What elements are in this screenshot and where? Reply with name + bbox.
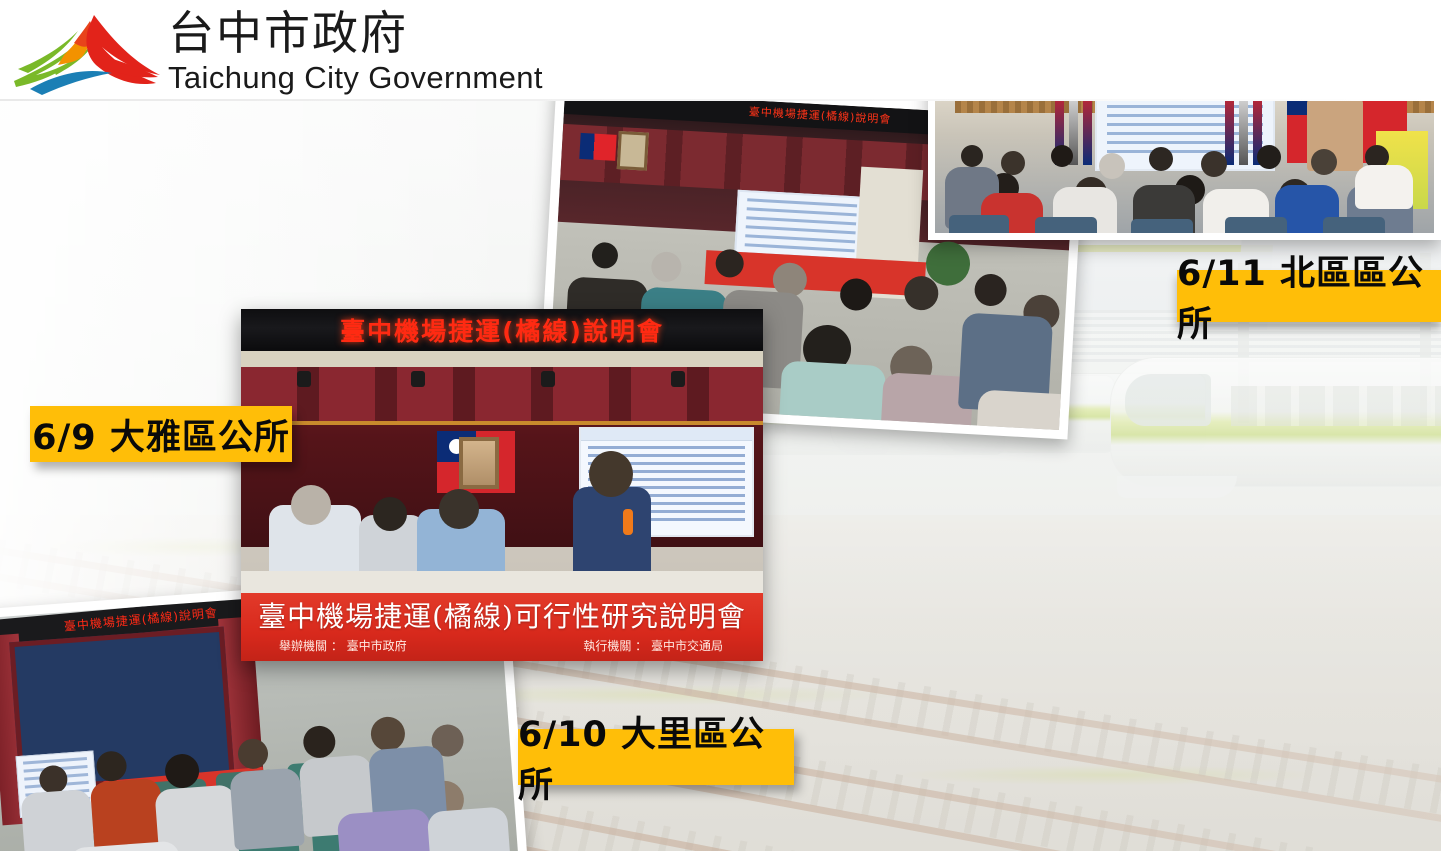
audience-head [974,273,1008,307]
red-event-banner: 臺中機場捷運(橘線)可行性研究說明會 舉辦機關 ： 臺中市政府 執行機關 ： 臺… [241,593,763,661]
banner-main-text: 臺中機場捷運(橘線)可行性研究說明會 [241,595,763,635]
audience-person [337,808,435,851]
audience-head [1001,151,1025,175]
audience-head [961,145,983,167]
slide-header [581,429,752,441]
audience-person [90,778,166,851]
audience-head [839,278,873,312]
stage-spotlight [411,371,425,387]
gov-title-zh: 台中市政府 [168,6,408,60]
caption-daya: 6/9 大雅區公所 [30,406,292,462]
audience-head [1051,145,1073,167]
audience-chair [1323,217,1385,233]
audience-head [1201,151,1227,177]
stage-spotlight [297,371,311,387]
audience-head [302,725,336,759]
audience-head [1311,149,1337,175]
microphone [623,509,633,535]
audience-person [975,390,1075,431]
poster-canvas: 臺中機場捷運(橘線)說明會 [0,0,1441,851]
audience-person [1355,165,1413,209]
audience-person [154,784,240,851]
banner-organizer-text: 舉辦機關 ： 臺中市政府 [279,637,407,654]
audience-head [651,251,683,283]
audience-person [427,806,512,851]
led-sign: 臺中機場捷運(橘線)說明會 [241,309,763,351]
photo-dali-briefing[interactable]: 臺中機場捷運(橘線)說明會 [241,309,763,661]
audience-person [778,361,886,431]
photo-dali-scene: 臺中機場捷運(橘線)說明會 [241,309,763,661]
audience-head [1149,147,1173,171]
audience-head [1257,145,1281,169]
audience-person [229,767,305,850]
caption-beiqu: 6/11 北區區公所 [1177,270,1441,322]
audience-head [370,716,406,752]
caption-dali: 6/10 大里區公所 [518,729,794,785]
audience-head [591,242,618,269]
official-head [439,489,479,529]
page-header: 台中市政府 Taichung City Government [0,0,1441,100]
taichung-city-government-logo-icon [8,5,168,97]
header-divider [0,99,1441,101]
stage-spotlight [671,371,685,387]
roc-flag [579,133,616,161]
stage-spotlight [541,371,555,387]
audience-chair [1131,219,1193,233]
audience-person [20,789,95,851]
audience-chair [949,215,1009,233]
banner-executor-text: 執行機關 ： 臺中市交通局 [583,637,723,654]
audience-head [1099,153,1125,179]
sun-yat-sen-portrait [617,131,649,171]
audience-chair [1225,217,1287,233]
gov-title-en: Taichung City Government [168,60,543,96]
official-head [373,497,407,531]
speaker-head [589,451,633,497]
sun-yat-sen-portrait [459,437,499,489]
audience-chair [1035,217,1097,233]
official-head [291,485,331,525]
